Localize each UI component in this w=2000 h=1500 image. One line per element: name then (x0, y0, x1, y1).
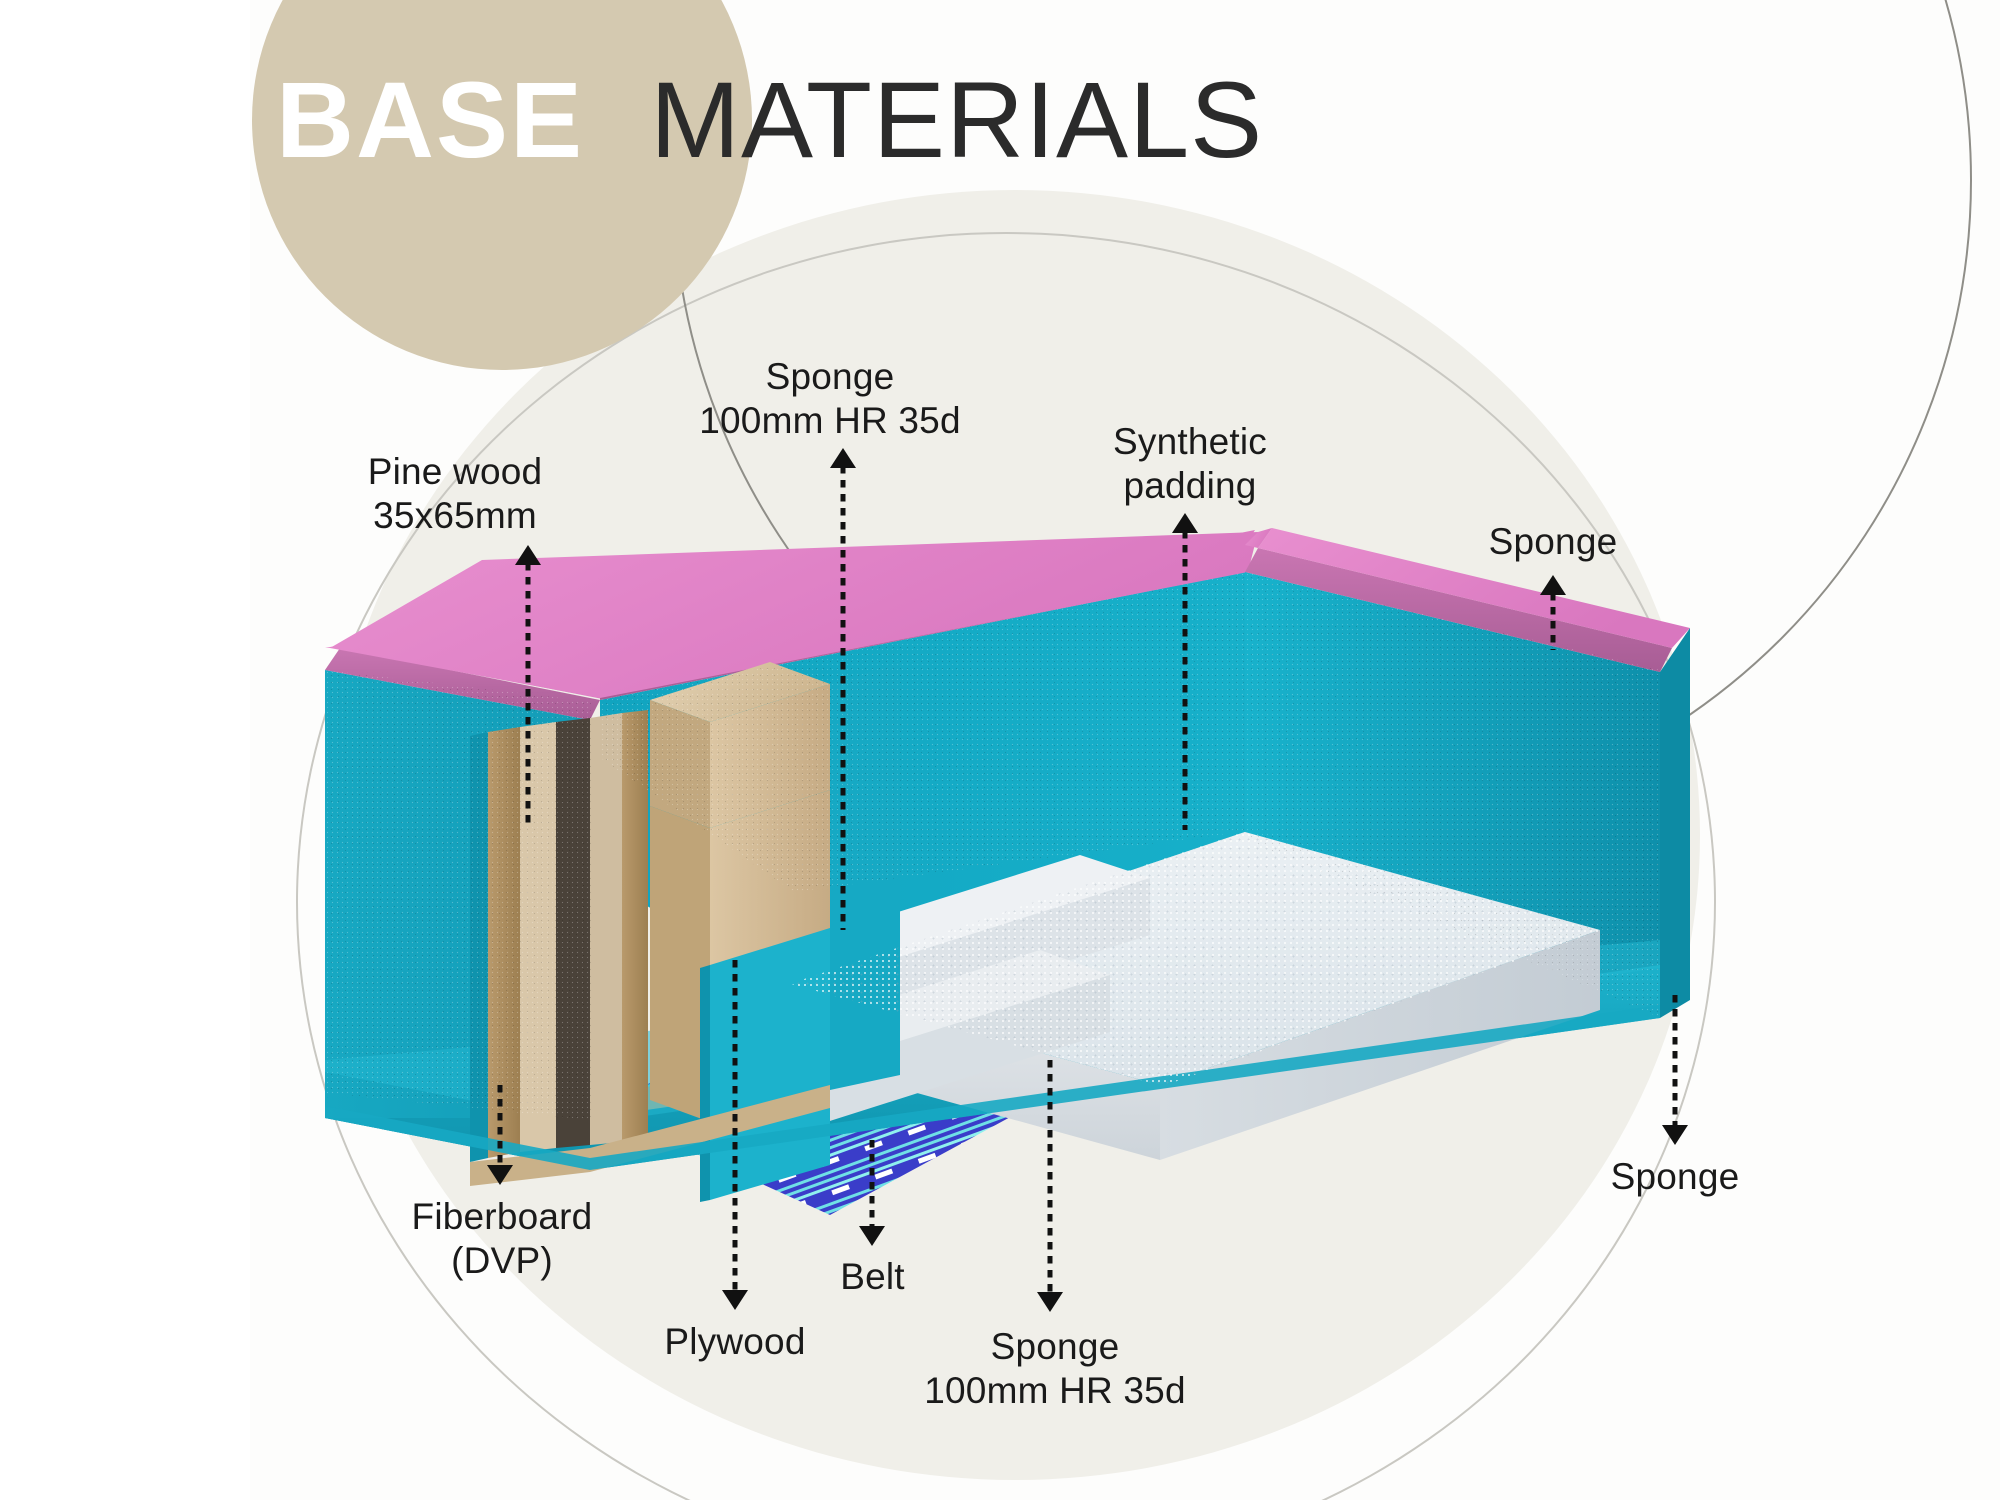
leader-dots (733, 960, 738, 1292)
leader-dots (1048, 1060, 1053, 1294)
callout-label-belt: Belt (800, 1255, 945, 1299)
arrowhead-up-icon (1172, 513, 1198, 533)
callout-label-sponge-bottom: Sponge 100mm HR 35d (875, 1325, 1235, 1412)
arrowhead-down-icon (722, 1290, 748, 1310)
leader-arrow-plywood (723, 960, 747, 1310)
leader-arrow-synthetic-padding (1173, 513, 1197, 830)
fiberboard-second-sheet (590, 713, 622, 1145)
leader-dots (870, 1140, 875, 1228)
furniture-base-cutaway-illustration (0, 0, 2000, 1500)
leader-arrow-sponge-bottom-right (1663, 995, 1687, 1145)
leader-arrow-fiberboard-dvp (488, 1085, 512, 1185)
leader-arrow-sponge-bottom (1038, 1060, 1062, 1312)
callout-label-fiberboard-dvp: Fiberboard (DVP) (372, 1195, 632, 1282)
arrowhead-up-icon (830, 448, 856, 468)
arrowhead-down-icon (487, 1165, 513, 1185)
leader-dots (1551, 593, 1556, 650)
texture-left-wall (325, 670, 591, 1120)
arrowhead-down-icon (1037, 1292, 1063, 1312)
callout-label-sponge-top-right: Sponge (1438, 520, 1668, 564)
leader-arrow-sponge-top-right (1541, 575, 1565, 650)
plywood-front-teal-edge (700, 965, 710, 1202)
arrowhead-down-icon (1662, 1125, 1688, 1145)
arrowhead-up-icon (515, 545, 541, 565)
callout-label-sponge-bottom-right: Sponge (1560, 1155, 1790, 1199)
callout-label-plywood: Plywood (625, 1320, 845, 1364)
leader-dots (1183, 531, 1188, 830)
callout-label-sponge-top-left: Sponge 100mm HR 35d (660, 355, 1000, 442)
leader-arrow-pine-wood (516, 545, 540, 825)
arrowhead-up-icon (1540, 575, 1566, 595)
callout-label-synthetic-padding: Synthetic padding (1070, 420, 1310, 507)
callout-label-pine-wood: Pine wood 35x65mm (330, 450, 580, 537)
arrowhead-down-icon (859, 1226, 885, 1246)
leader-dots (498, 1085, 503, 1167)
leader-arrow-belt (860, 1140, 884, 1246)
sponge-wall-right-outer (1660, 628, 1690, 1018)
leader-dots (526, 563, 531, 825)
leader-dots (841, 466, 846, 930)
leader-dots (1673, 995, 1678, 1127)
leader-arrow-sponge-top-left (831, 448, 855, 930)
diagram-canvas: BASE MATERIALS (0, 0, 2000, 1500)
